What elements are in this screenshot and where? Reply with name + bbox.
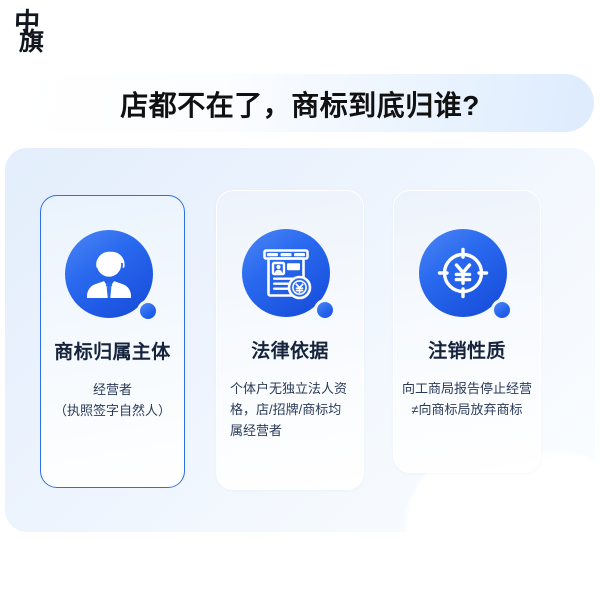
card-legal-basis[interactable]: 法律依据 个体户无独立法人资格，店/招牌/商标均属经营者 (216, 190, 364, 490)
card-heading: 法律依据 (251, 341, 329, 364)
card-heading: 商标归属主体 (54, 342, 170, 365)
icon-wrap-business-license (242, 229, 338, 325)
card-body-text: 经营者（执照签字自然人） (50, 379, 176, 421)
page-title: 店都不在了，商标到底归谁? (0, 84, 600, 124)
card-trademark-owner[interactable]: 商标归属主体 经营者（执照签字自然人） (40, 195, 185, 488)
icon-wrap-businessman (65, 230, 161, 326)
icon-accent-dot (137, 300, 159, 322)
card-body-text: 向工商局报告停止经营≠向商标局放弃商标 (400, 378, 534, 420)
icon-accent-dot (491, 299, 513, 321)
card-body-text: 个体户无独立法人资格，店/招牌/商标均属经营者 (230, 378, 352, 441)
card-deregistration-nature[interactable]: 注销性质 向工商局报告停止经营≠向商标局放弃商标 (393, 190, 541, 473)
brand-logo-char-2: 旗 (19, 33, 45, 54)
icon-wrap-yuan-target (419, 229, 515, 325)
icon-accent-dot (314, 299, 336, 321)
brand-logo: 中 旗 (14, 12, 70, 68)
card-heading: 注销性质 (428, 341, 506, 364)
